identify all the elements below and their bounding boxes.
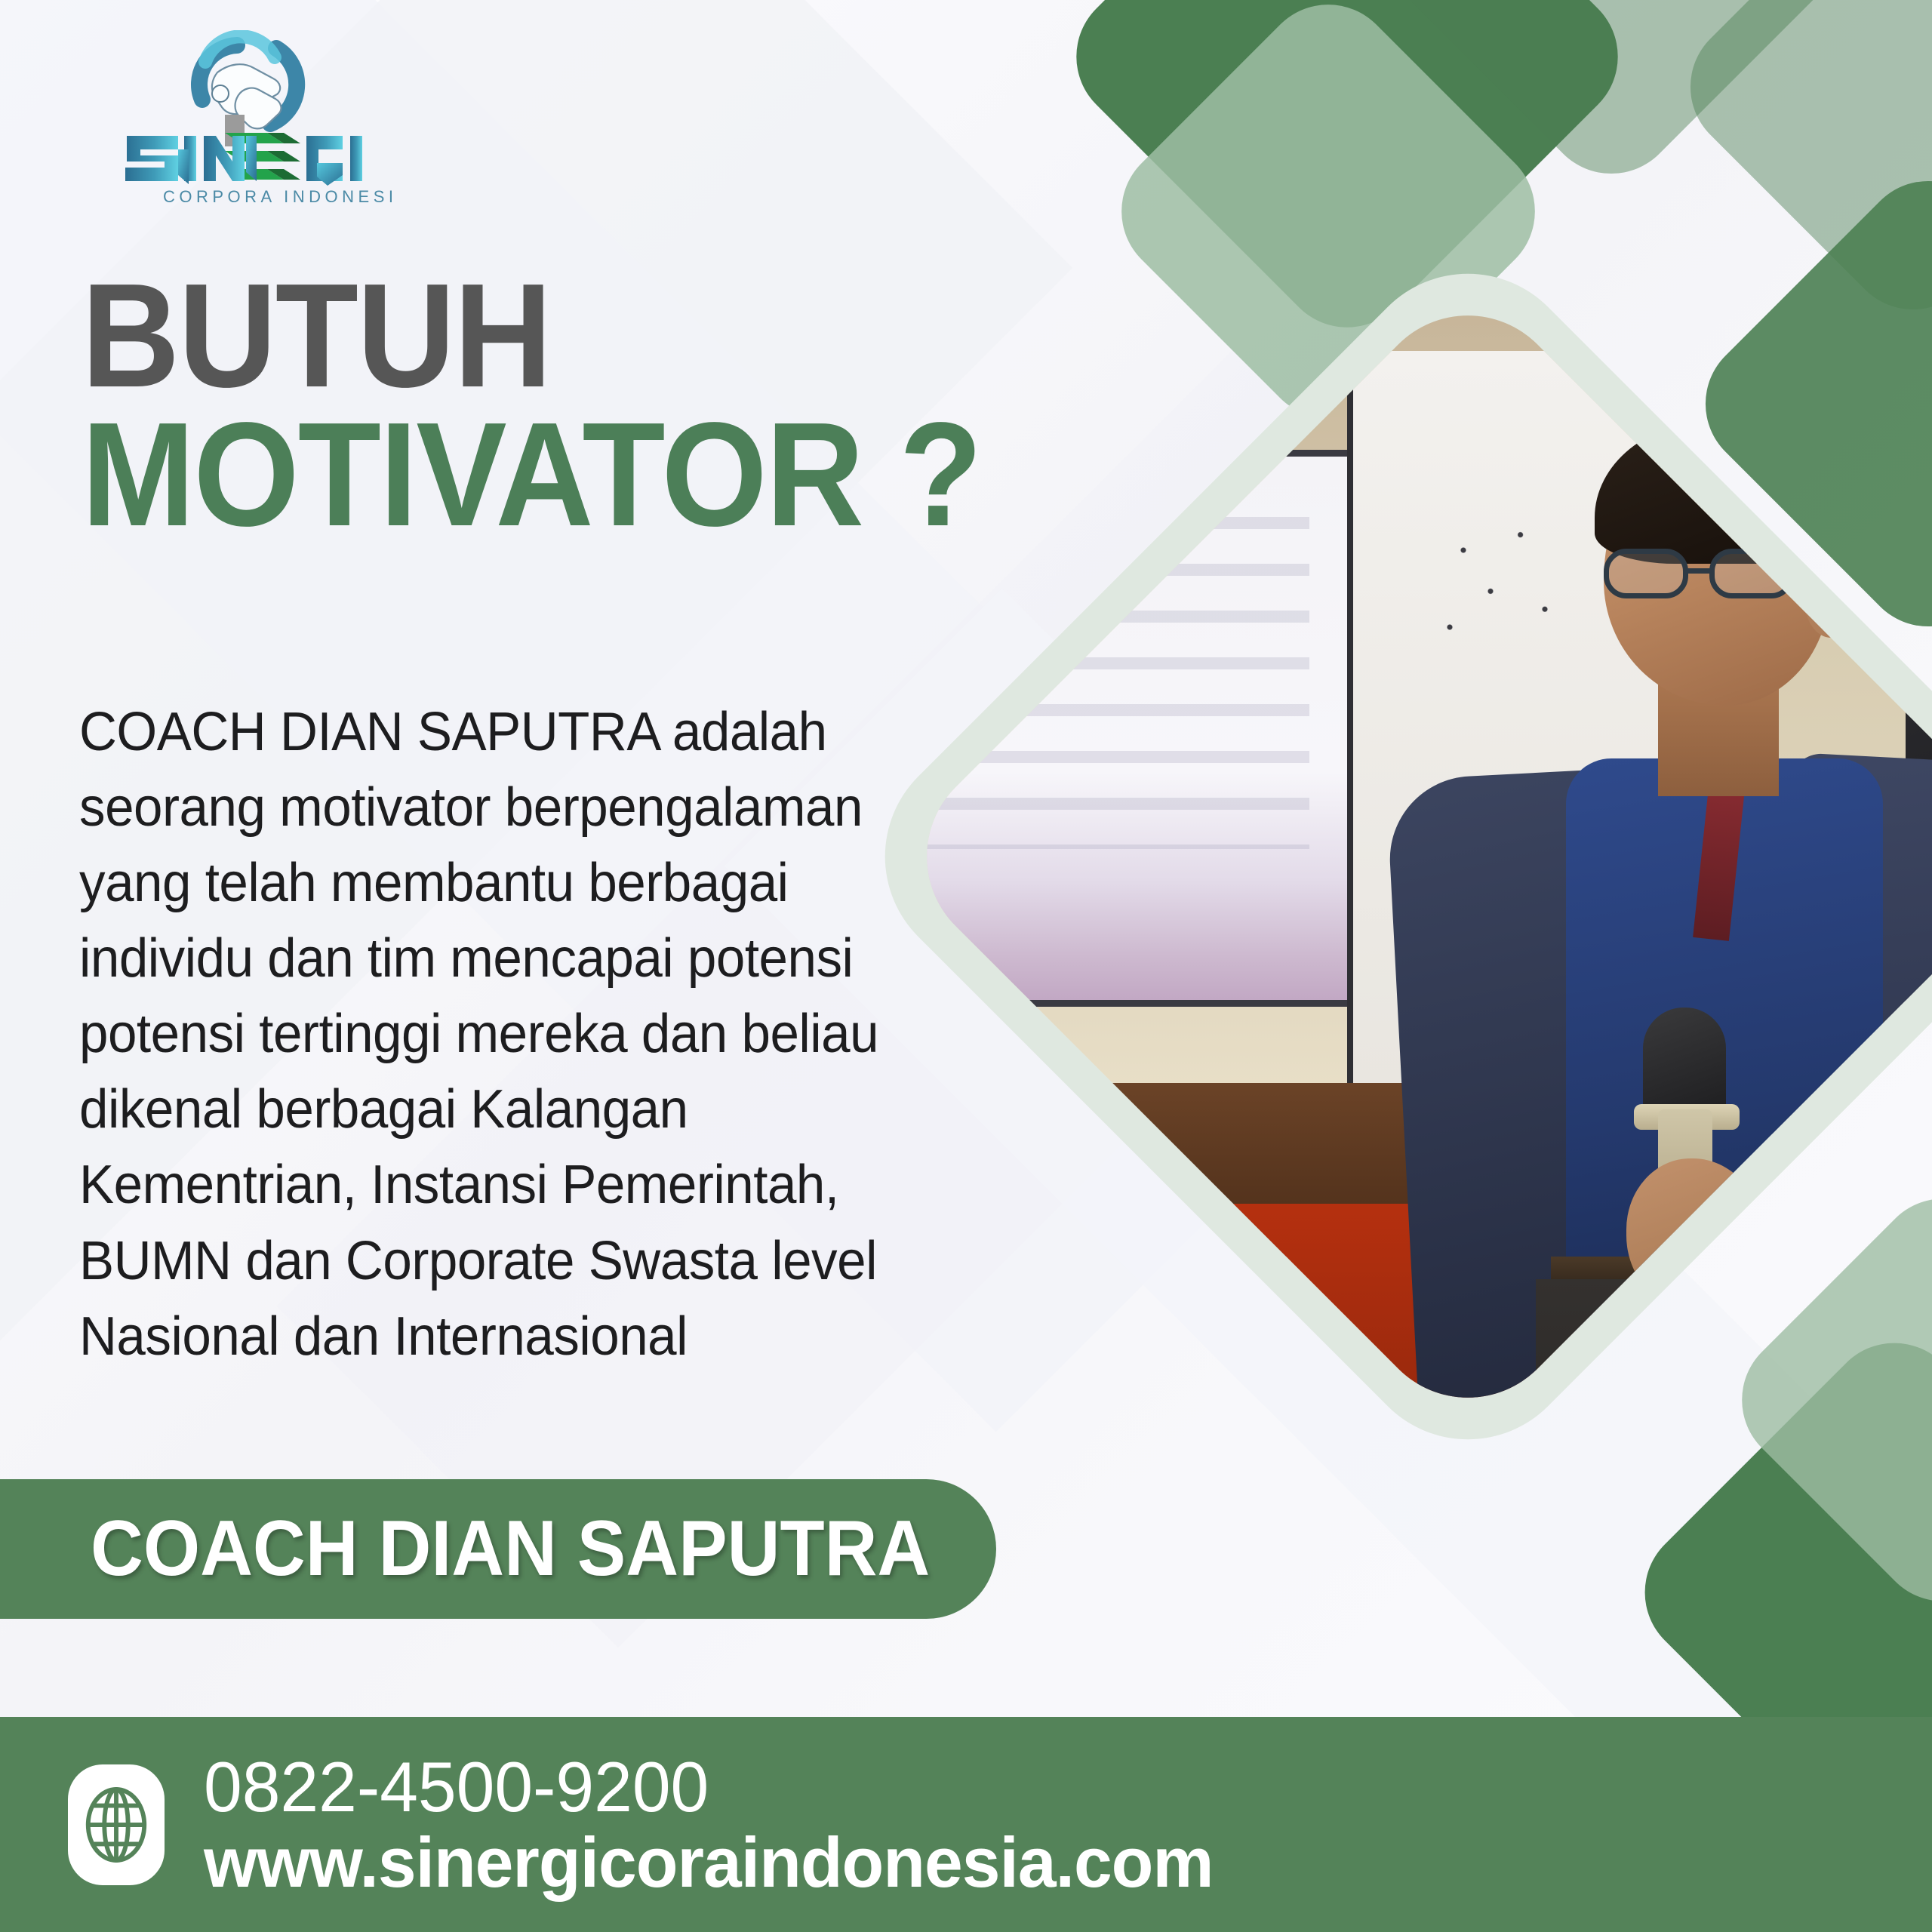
svg-text:CORPORA INDONESIA: CORPORA INDONESIA bbox=[163, 187, 392, 206]
headline-line-2: MOTIVATOR ? bbox=[82, 407, 1019, 543]
headline-line-1: BUTUH bbox=[82, 268, 1019, 404]
globe-icon bbox=[68, 1764, 165, 1885]
photo-glasses-lens-left bbox=[1604, 549, 1688, 598]
contact-phone[interactable]: 0822-4500-9200 bbox=[204, 1749, 1214, 1825]
contact-footer: 0822-4500-9200 www.sinergicoraindonesia.… bbox=[0, 1717, 1932, 1932]
headline: BUTUH MOTIVATOR ? bbox=[82, 268, 1100, 543]
company-logo: CORPORA INDONESIA bbox=[91, 30, 392, 211]
name-banner: COACH DIAN SAPUTRA bbox=[0, 1479, 996, 1619]
contact-details: 0822-4500-9200 www.sinergicoraindonesia.… bbox=[204, 1749, 1244, 1900]
poster-root: CORPORA INDONESIA BUTUH MOTIVATOR ? COAC… bbox=[0, 0, 1932, 1932]
contact-website[interactable]: www.sinergicoraindonesia.com bbox=[204, 1825, 1214, 1900]
name-banner-label: COACH DIAN SAPUTRA bbox=[91, 1504, 930, 1594]
photo-glasses-bridge bbox=[1687, 568, 1714, 574]
body-paragraph: COACH DIAN SAPUTRA adalah seorang motiva… bbox=[79, 694, 891, 1374]
